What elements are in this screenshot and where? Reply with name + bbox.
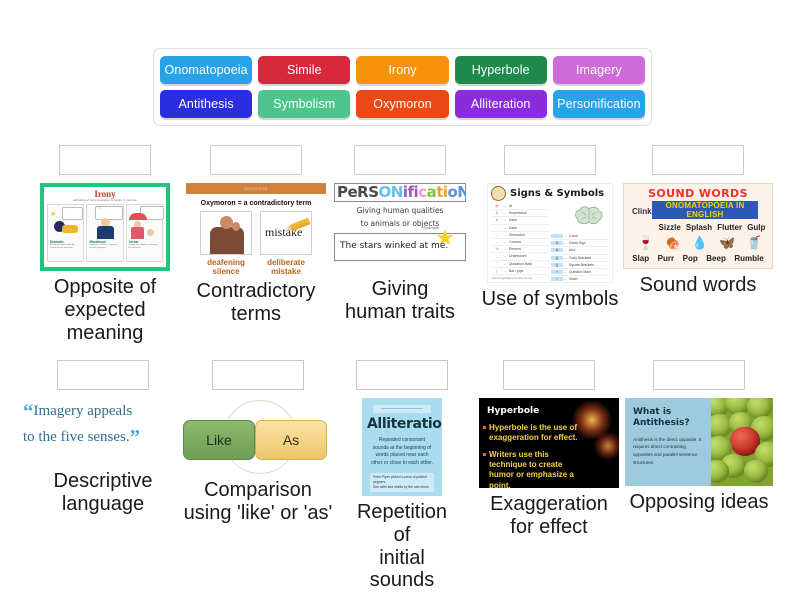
irony-title: Irony bbox=[47, 189, 163, 199]
caption-simile: Comparison using 'like' or 'as' bbox=[184, 479, 333, 525]
signs-title: Signs & Symbols bbox=[510, 188, 604, 199]
item-simile: Like As Comparison using 'like' or 'as' bbox=[182, 360, 334, 525]
signs-footer: www.englishgrammarhere.com bbox=[492, 276, 533, 280]
caption-personification: Giving human traits bbox=[345, 278, 455, 324]
word-bank-row-1: Onomatopoeia Simile Irony Hyperbole Imag… bbox=[160, 56, 645, 84]
word-tile-irony[interactable]: Irony bbox=[356, 56, 448, 84]
butterfly-icon: 🦋 bbox=[719, 235, 735, 251]
dropzone-personification[interactable] bbox=[354, 145, 446, 175]
dropzone-irony[interactable] bbox=[59, 145, 151, 175]
caption-antithesis: Opposing ideas bbox=[630, 491, 769, 514]
simile-like-box: Like bbox=[183, 420, 255, 460]
alliteration-title: Alliteration bbox=[367, 416, 437, 432]
caption-onomatopoeia: Sound words bbox=[640, 274, 757, 297]
sound-words-row-1: Sizzle Splash Flutter Gulp bbox=[628, 223, 768, 232]
thumbnail-antithesis[interactable]: What is Antithesis? Antithesis is the di… bbox=[625, 398, 773, 486]
thumbnail-irony[interactable]: Irony definition of irony examples & wor… bbox=[40, 183, 170, 271]
dropzone-antithesis[interactable] bbox=[653, 360, 745, 390]
dropzone-symbolism[interactable] bbox=[504, 145, 596, 175]
antithesis-body: Antithesis is the direct opposite. It re… bbox=[633, 436, 703, 467]
alliteration-body: Repeated consonant sounds at the beginni… bbox=[367, 437, 437, 467]
alliteration-ribbon bbox=[373, 405, 431, 413]
item-alliteration: Alliteration Repeated consonant sounds a… bbox=[352, 360, 452, 592]
dropzone-alliteration[interactable] bbox=[356, 360, 448, 390]
meat-icon: 🍖 bbox=[665, 235, 681, 251]
dropzone-oxymoron[interactable] bbox=[210, 145, 302, 175]
personification-title: PeRSONificatioN bbox=[337, 185, 463, 200]
open-quote-icon: “ bbox=[23, 399, 34, 423]
irony-subtitle: definition of irony examples & works, it… bbox=[47, 199, 163, 202]
dropzone-simile[interactable] bbox=[212, 360, 304, 390]
activity-canvas: Onomatopoeia Simile Irony Hyperbole Imag… bbox=[0, 0, 800, 600]
signs-right-column: :→Colon $→Dollar Sign &→And {}→Curly Bra… bbox=[551, 233, 609, 283]
personification-quote: The stars winked at me. bbox=[340, 241, 448, 251]
sound-words-title: SOUND WORDS bbox=[628, 187, 768, 200]
word-tile-personification[interactable]: Personification bbox=[553, 90, 645, 118]
item-symbolism: Signs & Symbols @→At &→Ampersand #→Hash … bbox=[480, 145, 620, 311]
caption-irony: Opposite of expected meaning bbox=[54, 276, 156, 344]
caption-imagery: Descriptive language bbox=[54, 470, 153, 516]
caption-hyperbole: Exaggeration for effect bbox=[490, 493, 608, 539]
dropzone-hyperbole[interactable] bbox=[503, 360, 595, 390]
word-tile-alliteration[interactable]: Alliteration bbox=[455, 90, 547, 118]
signs-left-column: @→At &→Ampersand #→Hash .→Dash ;→Semicol… bbox=[491, 203, 549, 283]
word-tile-symbolism[interactable]: Symbolism bbox=[258, 90, 350, 118]
item-oxymoron: Oxymoron Oxymoron = a contradictory term… bbox=[186, 145, 326, 326]
personification-line-1: Giving human qualities bbox=[334, 206, 466, 215]
sound-words-subtitle: ONOMATOPOEIA IN ENGLISH bbox=[652, 201, 758, 219]
thumbnail-signs-and-symbols[interactable]: Signs & Symbols @→At &→Ampersand #→Hash … bbox=[487, 183, 613, 283]
brain-icon bbox=[572, 204, 606, 228]
water-icon: 💧 bbox=[692, 235, 708, 251]
word-bank: Onomatopoeia Simile Irony Hyperbole Imag… bbox=[153, 48, 652, 126]
thumbnail-oxymoron[interactable]: Oxymoron Oxymoron = a contradictory term… bbox=[186, 183, 326, 275]
apples-image bbox=[711, 398, 773, 486]
item-personification: PeRSONificatioN Giving human qualities t… bbox=[334, 145, 466, 324]
sound-word-clink: Clink bbox=[632, 207, 652, 216]
item-irony: Irony definition of irony examples & wor… bbox=[40, 145, 170, 344]
thumbnail-simile[interactable]: Like As bbox=[183, 398, 333, 474]
word-tile-antithesis[interactable]: Antithesis bbox=[160, 90, 252, 118]
hyperbole-title: Hyperbole bbox=[487, 406, 539, 416]
irony-panel-body: Audience knows what the characters do no… bbox=[50, 244, 81, 250]
thumbnail-personification[interactable]: PeRSONificatioN Giving human qualities t… bbox=[334, 183, 466, 273]
close-quote-icon: ” bbox=[130, 425, 141, 446]
oxymoron-example-1: deafening silence bbox=[200, 211, 252, 275]
word-bank-row-2: Antithesis Symbolism Oxymoron Alliterati… bbox=[160, 90, 645, 118]
wine-glasses-icon: 🍷 bbox=[638, 235, 654, 251]
simile-as-box: As bbox=[255, 420, 327, 460]
dropzone-imagery[interactable] bbox=[57, 360, 149, 390]
oxymoron-example-label: deliberate mistake bbox=[260, 258, 312, 275]
irony-panel-body: Saying one thing but meaning the opposit… bbox=[129, 244, 160, 250]
irony-panel-body: Opposite of what is expected actually ha… bbox=[89, 244, 120, 250]
item-onomatopoeia: SOUND WORDS ONOMATOPOEIA IN ENGLISH Clin… bbox=[622, 145, 774, 297]
item-antithesis: What is Antithesis? Antithesis is the di… bbox=[624, 360, 774, 514]
oxymoron-bar-label: Oxymoron bbox=[186, 183, 326, 194]
caption-alliteration: Repetition of initial sounds bbox=[352, 501, 452, 592]
caption-oxymoron: Contradictory terms bbox=[197, 280, 316, 326]
item-imagery: “Imagery appeals to the five senses.” De… bbox=[22, 360, 184, 516]
dropzone-onomatopoeia[interactable] bbox=[652, 145, 744, 175]
thumbnail-hyperbole[interactable]: Hyperbole Hyperbole is the use of exagge… bbox=[479, 398, 619, 488]
imagery-quote: “Imagery appeals to the five senses.” bbox=[23, 398, 183, 446]
seal-icon bbox=[491, 186, 506, 201]
item-hyperbole: Hyperbole Hyperbole is the use of exagge… bbox=[478, 360, 620, 539]
thumbnail-sound-words[interactable]: SOUND WORDS ONOMATOPOEIA IN ENGLISH Clin… bbox=[623, 183, 773, 269]
oxymoron-example-label: deafening silence bbox=[200, 258, 252, 275]
word-tile-simile[interactable]: Simile bbox=[258, 56, 350, 84]
sound-words-icons-1: 🍷 🍖 💧 🦋 🥤 bbox=[628, 232, 768, 254]
sound-words-row-2: Slap Purr Pop Beep Rumble bbox=[628, 254, 768, 263]
hyperbole-bullet-1: Hyperbole is the use of exaggeration for… bbox=[489, 423, 597, 443]
irony-panel-situational: ??? Situational Opposite of what is expe… bbox=[86, 204, 123, 262]
thumbnail-alliteration[interactable]: Alliteration Repeated consonant sounds a… bbox=[362, 398, 442, 496]
oxymoron-definition: Oxymoron = a contradictory term bbox=[186, 200, 326, 207]
word-tile-onomatopoeia[interactable]: Onomatopoeia bbox=[160, 56, 252, 84]
caption-symbolism: Use of symbols bbox=[482, 288, 619, 311]
antithesis-heading: What is Antithesis? bbox=[633, 407, 703, 429]
thumbnail-imagery[interactable]: “Imagery appeals to the five senses.” bbox=[23, 398, 183, 446]
hyperbole-bullet-2: Writers use this technique to create hum… bbox=[489, 450, 575, 488]
word-tile-oxymoron[interactable]: Oxymoron bbox=[356, 90, 448, 118]
alliteration-examples: Peter Piper picked a peck of pickled pep… bbox=[370, 473, 434, 492]
oxymoron-example-2: mistake deliberate mistake bbox=[260, 211, 312, 275]
irony-panel-dramatic: ! ★ Dramatic Audience knows what the cha… bbox=[47, 204, 84, 262]
drink-icon: 🥤 bbox=[746, 235, 762, 251]
irony-panel-verbal: … Verbal Saying one thing but meaning th… bbox=[126, 204, 163, 262]
word-tile-imagery[interactable]: Imagery bbox=[553, 56, 645, 84]
word-tile-hyperbole[interactable]: Hyperbole bbox=[455, 56, 547, 84]
